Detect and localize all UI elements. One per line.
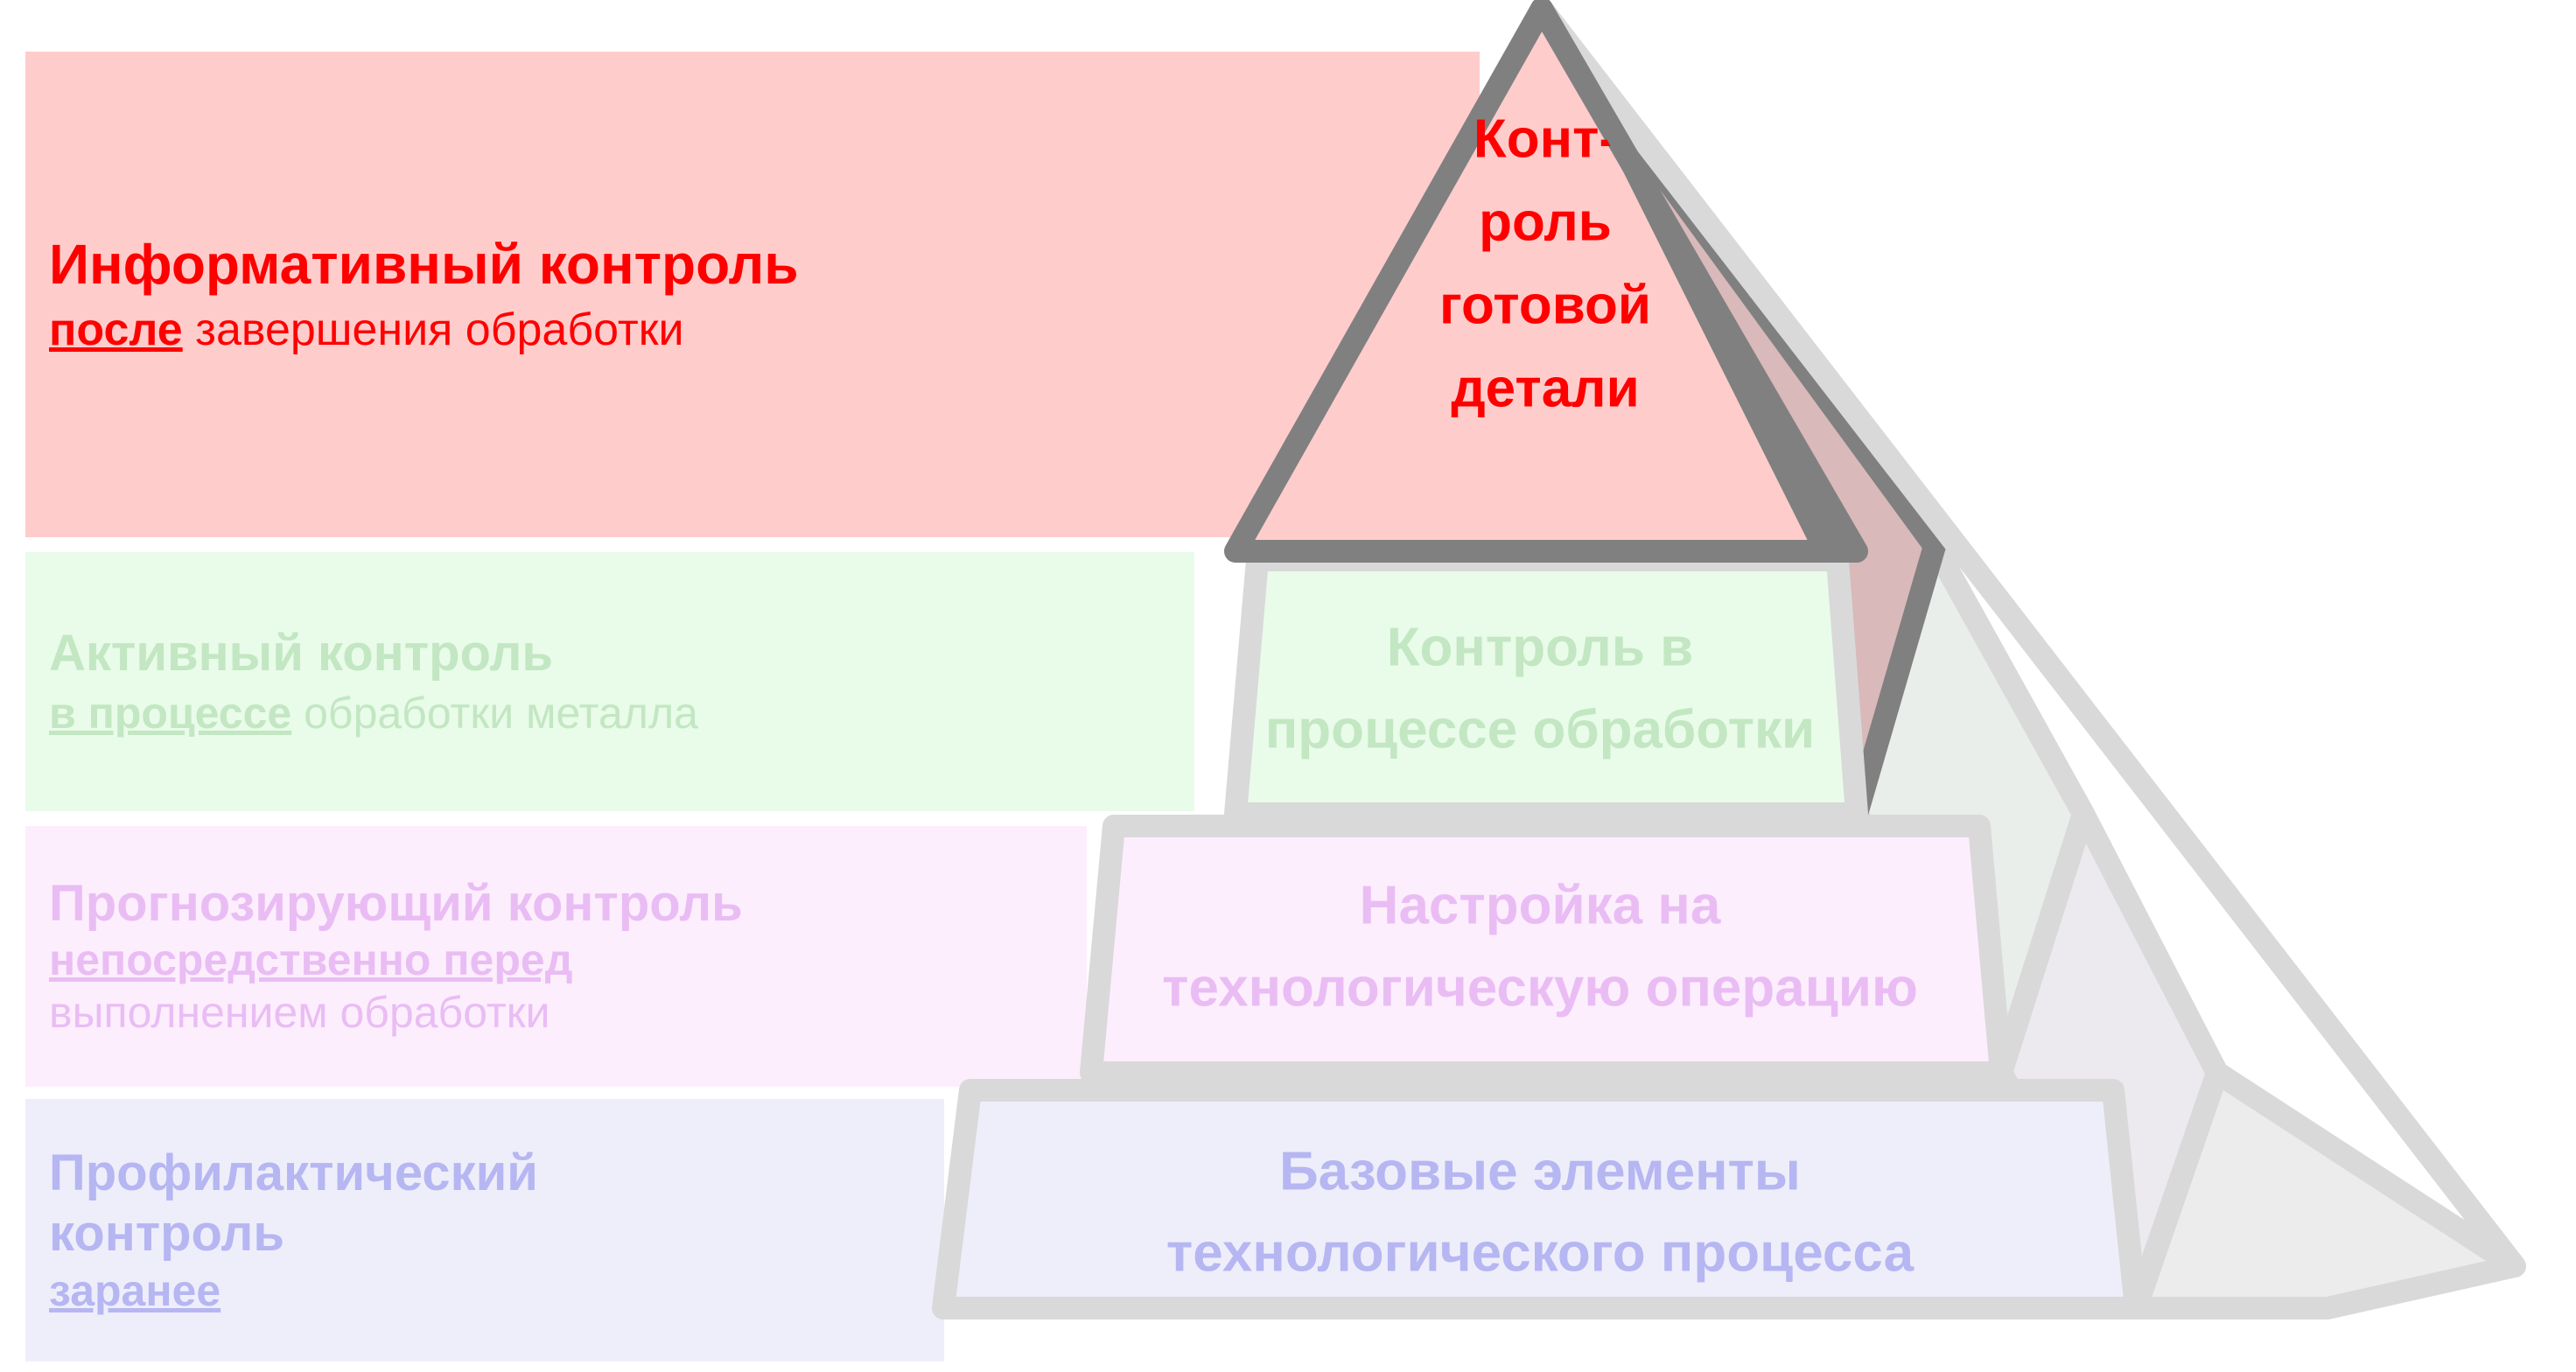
pyramid-level-4-line2: технологического процесса — [1166, 1222, 1914, 1283]
pyramid-level-1-line4: детали — [1451, 358, 1639, 418]
pyramid-level-3-line1: Настройка на — [1360, 875, 1721, 935]
pyramid-level-1-line2: роль — [1479, 192, 1612, 252]
diagram-canvas: Информативный контроль после завершения … — [0, 0, 2576, 1372]
pyramid-level-1-line3: готовой — [1439, 275, 1651, 335]
pyramid-level-1-line1: Конт- — [1473, 108, 1617, 169]
pyramid-level-4[interactable]: Базовые элементы технологического процес… — [943, 1090, 2136, 1308]
pyramid-level-2-line2: процессе обработки — [1265, 699, 1815, 759]
pyramid-level-3-line2: технологическую операцию — [1162, 957, 1918, 1018]
pyramid-level-3[interactable]: Настройка на технологическую операцию — [1091, 826, 2001, 1073]
pyramid-level-4-line1: Базовые элементы — [1279, 1141, 1801, 1201]
pyramid-graphic: Базовые элементы технологического процес… — [0, 0, 2576, 1372]
pyramid-level-2[interactable]: Контроль в процессе обработки — [1235, 560, 1857, 814]
pyramid-level-2-line1: Контроль в — [1387, 617, 1694, 677]
